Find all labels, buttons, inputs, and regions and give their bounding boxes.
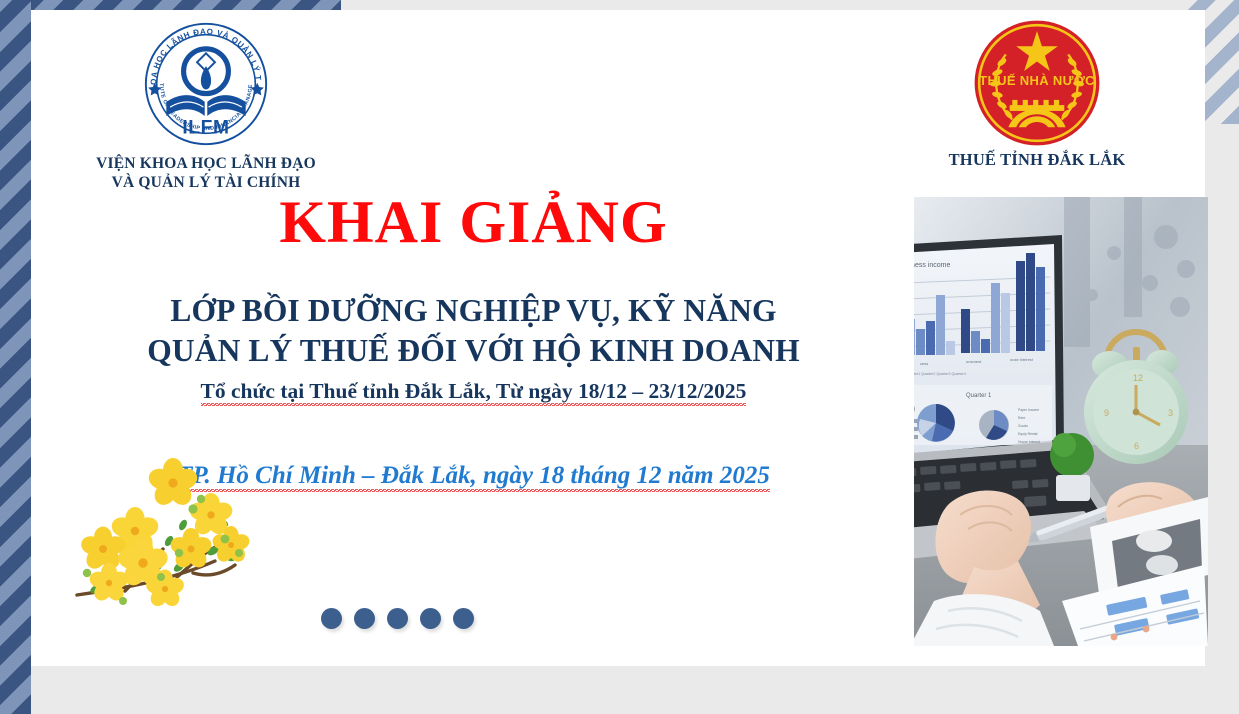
left-organization-block: VIỆN KHOA HỌC LÃNH ĐẠO VÀ QUẢN LÝ TÀI CH…	[41, 20, 371, 193]
decorative-dot	[354, 608, 375, 629]
left-edge-stripe-decoration	[0, 0, 31, 714]
decorative-dot	[453, 608, 474, 629]
decorative-dot	[387, 608, 408, 629]
svg-text:Rent: Rent	[1018, 416, 1025, 420]
decorative-dot	[420, 608, 441, 629]
left-organization-name: VIỆN KHOA HỌC LÃNH ĐẠO VÀ QUẢN LÝ TÀI CH…	[41, 154, 371, 193]
course-subtitle-line1: LỚP BỒI DƯỠNG NGHIỆP VỤ, KỸ NĂNG	[170, 293, 776, 328]
svg-text:cess: cess	[920, 361, 928, 366]
venue-and-dates-line: Tổ chức tại Thuế tỉnh Đắk Lắk, Từ ngày 1…	[51, 379, 896, 404]
photo-illustration: siness income	[914, 197, 1208, 646]
decorative-dot	[321, 608, 342, 629]
presentation-slide: VIỆN KHOA HỌC LÃNH ĐẠO VÀ QUẢN LÝ TÀI CH…	[0, 0, 1239, 714]
svg-text:Paper Income: Paper Income	[1018, 408, 1039, 412]
svg-text:ILFM: ILFM	[182, 117, 229, 138]
venue-and-dates-text: Tổ chức tại Thuế tỉnh Đắk Lắk, Từ ngày 1…	[201, 379, 747, 406]
svg-text:9: 9	[1104, 408, 1109, 418]
vietnam-state-tax-emblem-icon: THUẾ NHÀ NƯỚC	[972, 18, 1102, 148]
ilfm-institute-logo-icon: VIỆN KHOA HỌC LÃNH ĐẠO VÀ QUẢN LÝ TÀI CH…	[142, 20, 270, 148]
main-title: KHAI GIẢNG	[51, 190, 896, 255]
left-org-name-line1: VIỆN KHOA HỌC LÃNH ĐẠO	[96, 155, 316, 172]
svg-text:Quarter1 Quarter2 Quarter3: Quarter1 Quarter2 Quarter3 Quarter4	[914, 372, 966, 376]
course-subtitle-line2: QUẢN LÝ THUẾ ĐỐI VỚI HỘ KINH DOANH	[51, 331, 896, 371]
course-subtitle: LỚP BỒI DƯỠNG NGHIỆP VỤ, KỸ NĂNG QUẢN LÝ…	[51, 291, 896, 372]
title-block: KHAI GIẢNG LỚP BỒI DƯỠNG NGHIỆP VỤ, KỸ N…	[51, 190, 896, 490]
yellow-apricot-blossom-branch-icon	[73, 453, 273, 613]
svg-text:siness income: siness income	[914, 262, 950, 269]
svg-text:12: 12	[1133, 373, 1143, 383]
business-analytics-laptop-photo: siness income	[914, 197, 1208, 646]
right-organization-name: THUẾ TỈNH ĐẮK LẮK	[887, 150, 1187, 170]
svg-text:Goods: Goods	[1018, 424, 1028, 428]
slide-content-card: VIỆN KHOA HỌC LÃNH ĐẠO VÀ QUẢN LÝ TÀI CH…	[31, 10, 1205, 666]
svg-text:Equip Rental: Equip Rental	[1018, 432, 1038, 436]
dot-decoration-row	[321, 608, 474, 629]
right-organization-block: THUẾ NHÀ NƯỚC THUẾ TỈNH ĐẮK LẮK	[887, 18, 1187, 170]
svg-text:unsment: unsment	[966, 359, 982, 364]
tax-emblem-text: THUẾ NHÀ NƯỚC	[979, 73, 1095, 88]
svg-text:3: 3	[1168, 408, 1173, 418]
svg-text:6: 6	[1134, 441, 1139, 451]
svg-text:ouse interest: ouse interest	[1010, 357, 1034, 362]
svg-text:Quarter 1: Quarter 1	[966, 393, 992, 399]
